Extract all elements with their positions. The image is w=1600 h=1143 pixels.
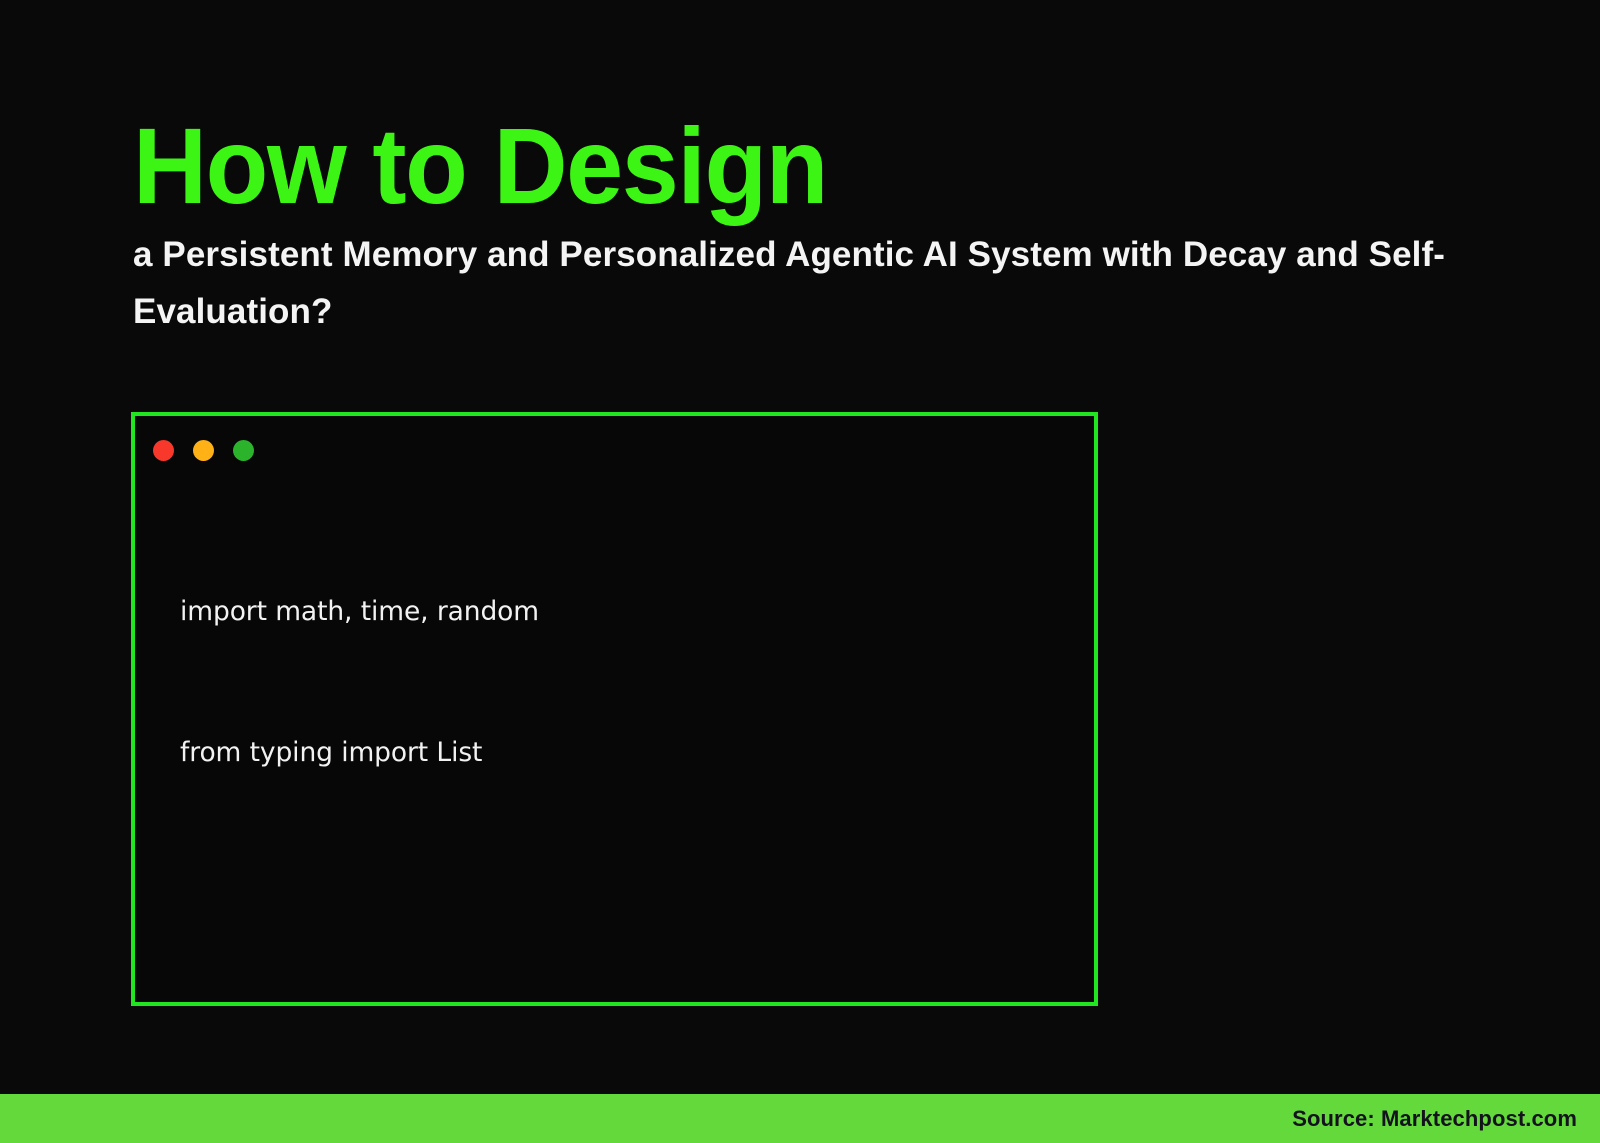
source-attribution: Source: Marktechpost.com: [1292, 1106, 1577, 1132]
slide-root: How to Design a Persistent Memory and Pe…: [0, 0, 1600, 1143]
code-block: import math, time, random from typing im…: [180, 494, 1084, 998]
code-line: from typing import List: [180, 729, 1084, 776]
page-subtitle: a Persistent Memory and Personalized Age…: [133, 227, 1473, 340]
code-window: import math, time, random from typing im…: [131, 412, 1098, 1006]
window-controls: [153, 440, 254, 461]
minimize-dot[interactable]: [193, 440, 214, 461]
maximize-dot[interactable]: [233, 440, 254, 461]
footer-bar: Source: Marktechpost.com: [0, 1094, 1600, 1143]
close-dot[interactable]: [153, 440, 174, 461]
code-line: import math, time, random: [180, 588, 1084, 635]
page-title: How to Design: [133, 109, 827, 222]
code-line: [180, 870, 1084, 917]
